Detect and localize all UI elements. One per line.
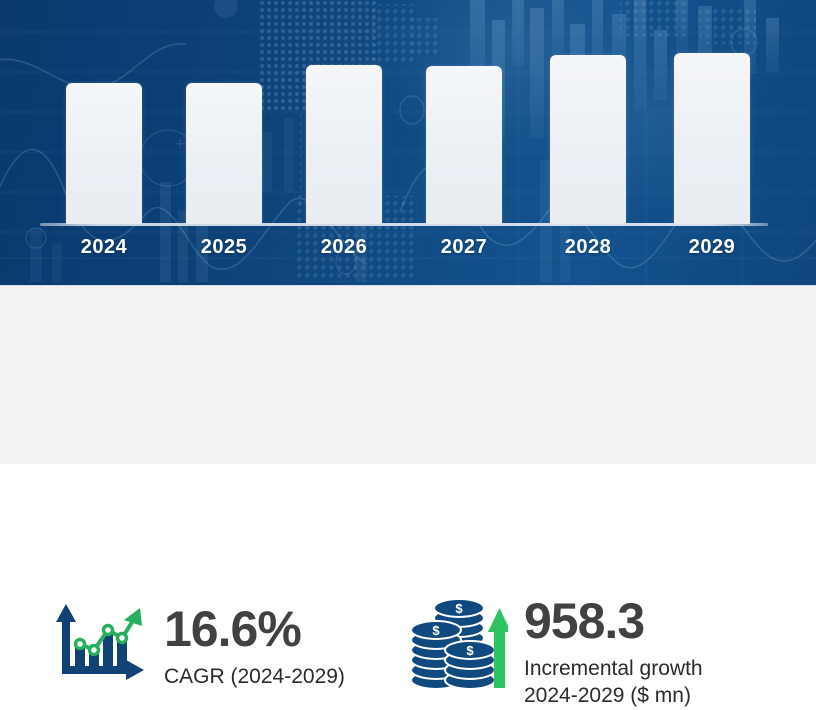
stats-panel: 16.6% CAGR (2024-2029) [0, 285, 816, 464]
bar-label-2024: 2024 [66, 236, 142, 259]
svg-text:$: $ [466, 643, 474, 658]
svg-text:$: $ [455, 601, 463, 616]
bar-2027[interactable] [426, 66, 502, 224]
stat-growth-text: 958.3 Incremental growth 2024-2029 ($ mn… [524, 596, 703, 710]
bar-2028[interactable] [550, 55, 626, 224]
chart-panel: +16.6% 2024 2025 2026 2027 2028 2029 [0, 0, 816, 285]
bar-label-2028: 2028 [550, 236, 626, 259]
market-summary-infographic: +16.6% 2024 2025 2026 2027 2028 2029 [0, 0, 816, 464]
bar-2029[interactable] [674, 53, 750, 224]
growth-chart-icon [48, 604, 148, 691]
bar-label-2029: 2029 [674, 236, 750, 259]
coin-stack-right: $ [445, 641, 495, 688]
bar-2025[interactable] [186, 83, 262, 224]
stat-cagr-text: 16.6% CAGR (2024-2029) [164, 604, 345, 691]
cagr-value: 16.6% [164, 604, 345, 654]
stat-cagr: 16.6% CAGR (2024-2029) [48, 604, 345, 691]
bar-label-2026: 2026 [306, 236, 382, 259]
incremental-growth-caption: Incremental growth 2024-2029 ($ mn) [524, 656, 703, 710]
stat-incremental-growth: $ $ [410, 596, 703, 710]
cagr-caption: CAGR (2024-2029) [164, 664, 345, 691]
svg-text:$: $ [432, 623, 440, 638]
bar-chart: 2024 2025 2026 2027 2028 2029 [0, 0, 816, 285]
bar-label-2025: 2025 [186, 236, 262, 259]
bar-2026[interactable] [306, 65, 382, 224]
coin-stacks-icon: $ $ [410, 596, 508, 693]
chart-axis-line [40, 223, 768, 226]
bar-2024[interactable] [66, 83, 142, 224]
incremental-growth-value: 958.3 [524, 596, 703, 646]
bar-label-2027: 2027 [426, 236, 502, 259]
